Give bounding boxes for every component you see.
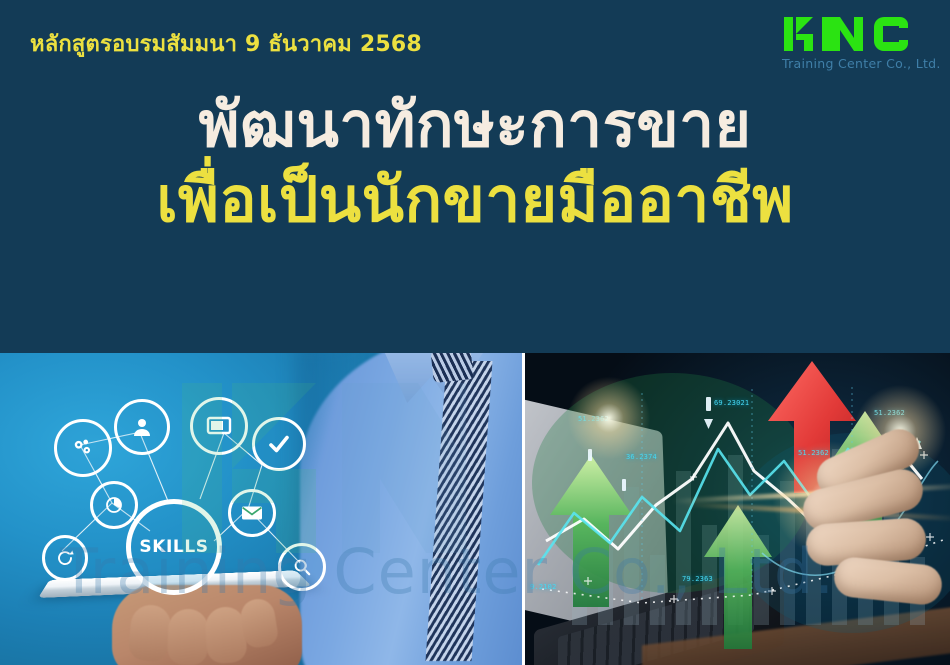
data-label: 69.23021 [714, 399, 749, 407]
title-line-1: พัฒนาทักษะการขาย [0, 92, 950, 159]
title-line-2: เพื่อเป็นนักขายมืออาชีพ [0, 167, 950, 234]
refresh-icon [42, 535, 88, 581]
pointing-hand [780, 435, 950, 625]
finger [832, 555, 944, 606]
envelope-icon [228, 489, 276, 537]
check-icon [252, 417, 306, 471]
pie-chart-icon [90, 481, 138, 529]
data-label: 36.2374 [626, 453, 657, 461]
person-icon [114, 399, 170, 455]
skills-core-label: SKILLS [139, 537, 208, 557]
skills-core-node: SKILLS [126, 499, 222, 595]
right-photo-finance: 69.23021 51.2362 51.2362 36.2374 51.2362… [522, 353, 950, 665]
poster-header: หลักสูตรอบรมสัมมนา 9 ธันวาคม 2568 [0, 0, 950, 353]
search-icon [278, 543, 326, 591]
data-label: 9.2102 [530, 583, 557, 591]
knc-logo-mark [782, 14, 922, 54]
image-divider [522, 353, 525, 665]
poster-title: พัฒนาทักษะการขาย เพื่อเป็นนักขายมืออาชีพ [0, 92, 950, 234]
seminar-poster: หลักสูตรอบรมสัมมนา 9 ธันวาคม 2568 [0, 0, 950, 665]
poster-image-band: SKILLS [0, 353, 950, 665]
data-label: 79.2363 [682, 575, 713, 583]
gears-icon [54, 419, 112, 477]
data-label: 51.2362 [874, 409, 905, 417]
course-date-eyebrow: หลักสูตรอบรมสัมมนา 9 ธันวาคม 2568 [30, 26, 422, 61]
data-label: 51.2362 [578, 415, 609, 423]
knc-logo-subtitle: Training Center Co., Ltd. [782, 56, 922, 71]
knc-logo: Training Center Co., Ltd. [782, 14, 922, 80]
monitor-icon [190, 397, 248, 455]
left-photo-skills: SKILLS [0, 353, 522, 665]
